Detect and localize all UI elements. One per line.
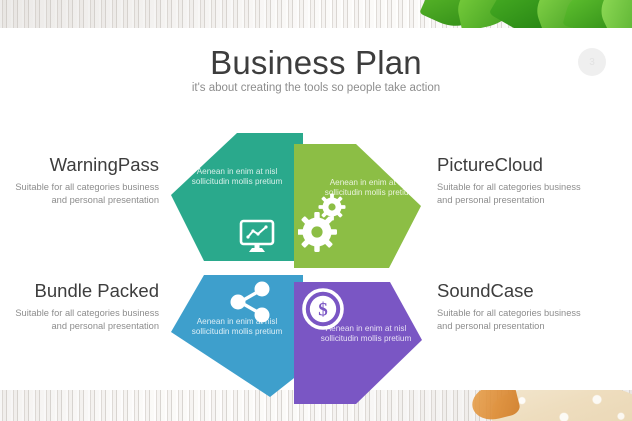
pentagon-soundcase[interactable]: Aenean in enim at nisl sollicitudin moll…	[294, 282, 422, 404]
label-soundcase-name: SoundCase	[437, 280, 587, 302]
pentagon-picturecloud[interactable]: Aenean in enim at nisl sollicitudin moll…	[294, 144, 421, 268]
label-soundcase-desc: Suitable for all categories business and…	[437, 307, 587, 332]
label-bundlepacked-desc: Suitable for all categories business and…	[14, 307, 159, 332]
label-bundlepacked: Bundle Packed Suitable for all categorie…	[14, 280, 159, 332]
label-warningpass-desc: Suitable for all categories business and…	[14, 181, 159, 206]
pentagon-diagram: Aenean in enim at nisl sollicitudin moll…	[0, 28, 632, 390]
label-soundcase: SoundCase Suitable for all categories bu…	[437, 280, 587, 332]
pentagon-bundlepacked-shape	[171, 275, 303, 397]
pentagon-picturecloud-shape	[294, 144, 421, 268]
pentagon-warningpass-shape	[171, 133, 303, 261]
slide-card: Business Plan it's about creating the to…	[0, 28, 632, 390]
pentagon-warningpass[interactable]: Aenean in enim at nisl sollicitudin moll…	[171, 133, 303, 261]
pentagon-soundcase-shape	[294, 282, 422, 404]
label-picturecloud: PictureCloud Suitable for all categories…	[437, 154, 587, 206]
label-bundlepacked-name: Bundle Packed	[14, 280, 159, 302]
label-warningpass-name: WarningPass	[14, 154, 159, 176]
pentagon-bundlepacked[interactable]: Aenean in enim at nisl sollicitudin moll…	[171, 275, 303, 397]
bread-decoration	[472, 387, 632, 421]
label-warningpass: WarningPass Suitable for all categories …	[14, 154, 159, 206]
label-picturecloud-desc: Suitable for all categories business and…	[437, 181, 587, 206]
label-picturecloud-name: PictureCloud	[437, 154, 587, 176]
